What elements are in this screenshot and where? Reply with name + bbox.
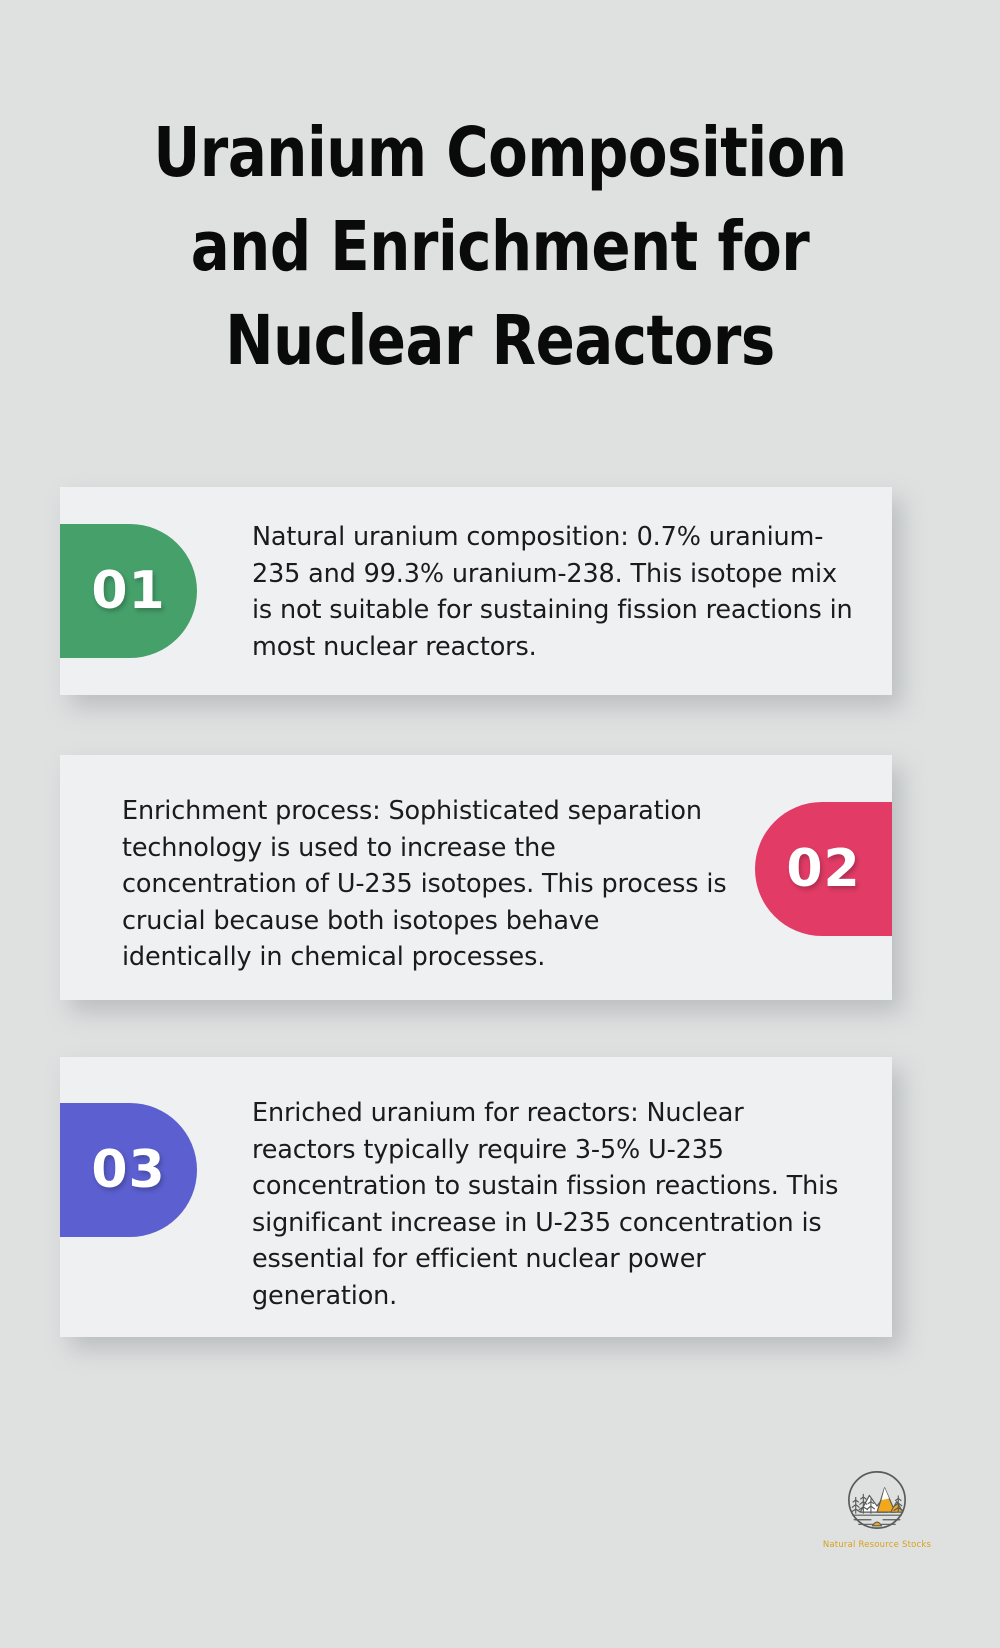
info-card-02: 02 Enrichment process: Sophisticated sep…: [60, 755, 892, 1000]
brand-logo-caption: Natural Resource Stocks: [823, 1540, 931, 1550]
info-card-03: 03 Enriched uranium for reactors: Nuclea…: [60, 1057, 892, 1337]
brand-logo: Natural Resource Stocks: [812, 1462, 942, 1574]
step-number-badge-01: 01: [60, 524, 197, 658]
page-title: Uranium Composition and Enrichment for N…: [0, 106, 1000, 388]
mountain-forest-circle-icon: [839, 1462, 915, 1538]
step-number-badge-03: 03: [60, 1103, 197, 1237]
info-card-text-02: Enrichment process: Sophisticated separa…: [122, 793, 732, 976]
info-card-01: 01 Natural uranium composition: 0.7% ura…: [60, 487, 892, 695]
info-card-text-01: Natural uranium composition: 0.7% uraniu…: [252, 519, 862, 665]
info-card-text-03: Enriched uranium for reactors: Nuclear r…: [252, 1095, 840, 1314]
step-number-badge-02: 02: [755, 802, 892, 936]
title-line-2: and Enrichment for: [35, 200, 965, 294]
infographic-page: Uranium Composition and Enrichment for N…: [0, 0, 1000, 1648]
title-line-3: Nuclear Reactors: [35, 294, 965, 388]
title-line-1: Uranium Composition: [35, 106, 965, 200]
